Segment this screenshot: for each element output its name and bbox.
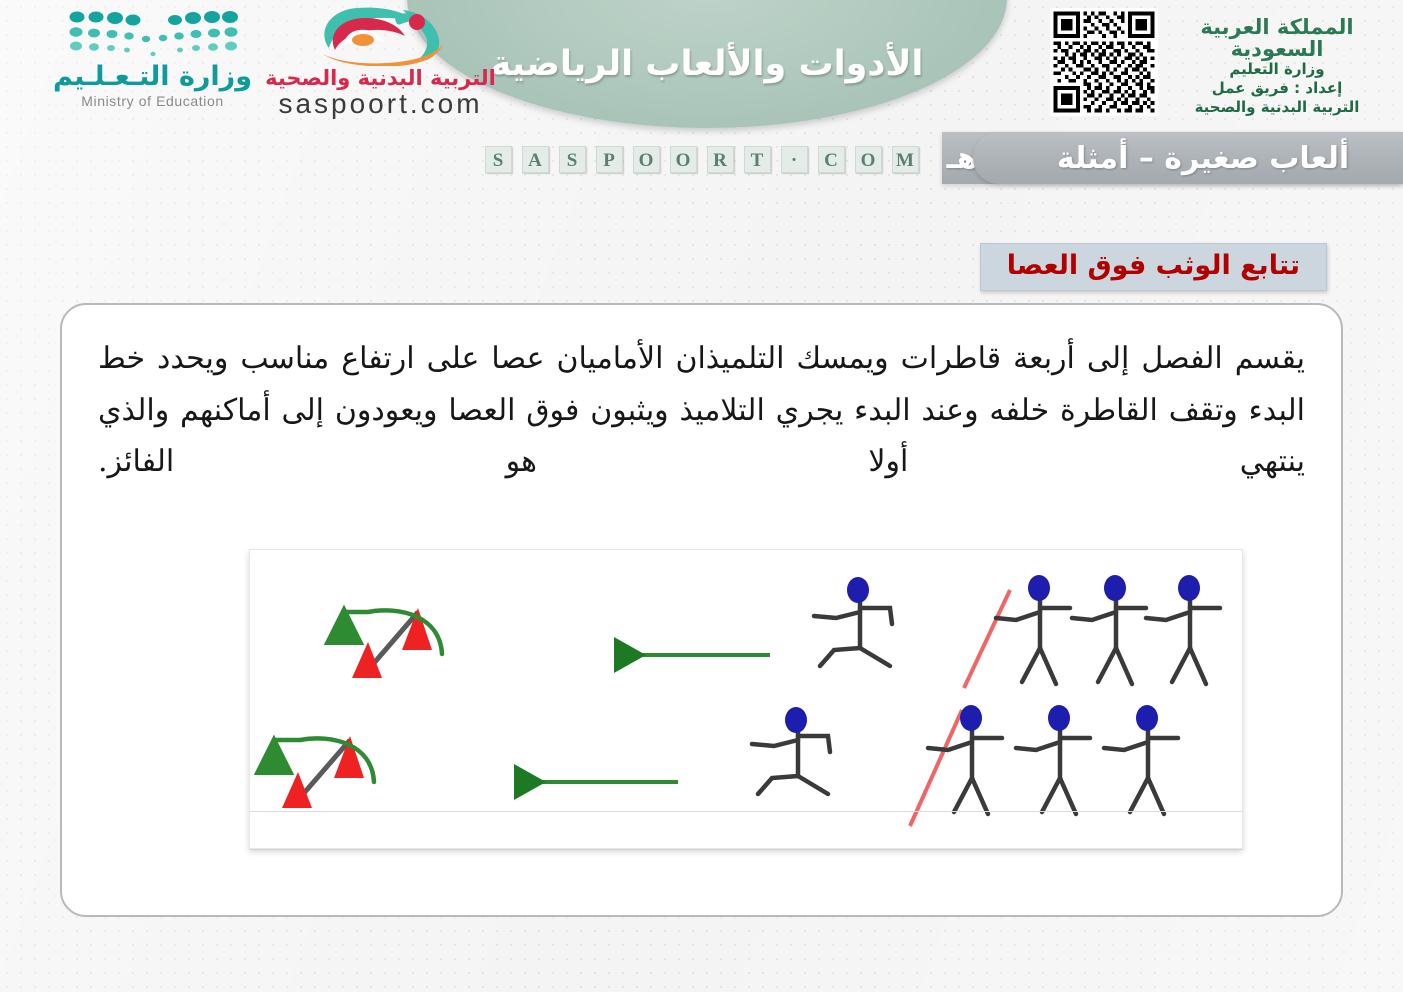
slide-root: الأدوات والألعاب الرياضية — [0, 0, 1403, 992]
waiting-figure-row1-3 — [1146, 596, 1220, 684]
moe-logo-arabic-label: وزارة التـعـلـيم — [45, 62, 260, 92]
ministry-of-education-logo: وزارة التـعـلـيم Ministry of Education — [45, 8, 260, 109]
start-line-row1 — [964, 590, 1010, 688]
lesson-title-badge: تتابع الوثب فوق العصا — [980, 243, 1327, 291]
waiting-figure-row2-3 — [1104, 726, 1178, 814]
header-band: الأدوات والألعاب الرياضية — [0, 0, 1403, 126]
relay-illustration — [249, 549, 1243, 849]
subheader-row: الفصل الدراسي الثالث ١٤٤٣هـ ألعاب صغيرة … — [0, 130, 1403, 192]
illustration-divider — [250, 811, 1242, 812]
department-label: التربية البدنية والصحية — [1161, 98, 1393, 117]
running-figure-row1 — [814, 598, 892, 666]
lesson-category-pill: ألعاب صغيرة – أمثلة — [973, 132, 1403, 184]
hurdle-group-row1 — [344, 608, 442, 678]
content-card: يقسم الفصل إلى أربعة قاطرات ويمسك التلمي… — [60, 303, 1343, 917]
moe-dots-icon — [63, 8, 243, 60]
ministry-name-label: وزارة التعليم — [1161, 60, 1393, 79]
lesson-description-text: يقسم الفصل إلى أربعة قاطرات ويمسك التلمي… — [98, 333, 1305, 488]
saspoort-arabic-label: التربية البدنية والصحية — [258, 67, 503, 89]
running-figure-row2 — [752, 728, 830, 794]
waiting-figure-row1-1 — [996, 596, 1070, 684]
lesson-category-label: ألعاب صغيرة – أمثلة — [1003, 141, 1403, 176]
moe-logo-english-label: Ministry of Education — [45, 93, 260, 109]
runner-head-row1 — [847, 577, 869, 603]
hurdle-group-row2 — [274, 736, 374, 808]
stick-figure-relay-diagram-svg — [250, 550, 1242, 848]
prepared-by-label: إعداد : فريق عمل — [1161, 79, 1393, 98]
waiting-figure-row1-2 — [1072, 596, 1146, 684]
ministry-credits-block: المملكة العربية السعودية وزارة التعليم إ… — [1161, 16, 1393, 116]
waiting-figure-row2-2 — [1016, 726, 1090, 814]
waiting-figure-row2-1 — [928, 726, 1002, 814]
saspoort-swoosh-icon — [311, 2, 451, 66]
saspoort-logo: التربية البدنية والصحية saspoort.com — [258, 2, 503, 118]
saspoort-url-label: saspoort.com — [258, 90, 503, 118]
qr-code-icon — [1050, 8, 1158, 116]
runner-head-row2 — [785, 707, 807, 733]
kingdom-label: المملكة العربية السعودية — [1161, 16, 1393, 60]
